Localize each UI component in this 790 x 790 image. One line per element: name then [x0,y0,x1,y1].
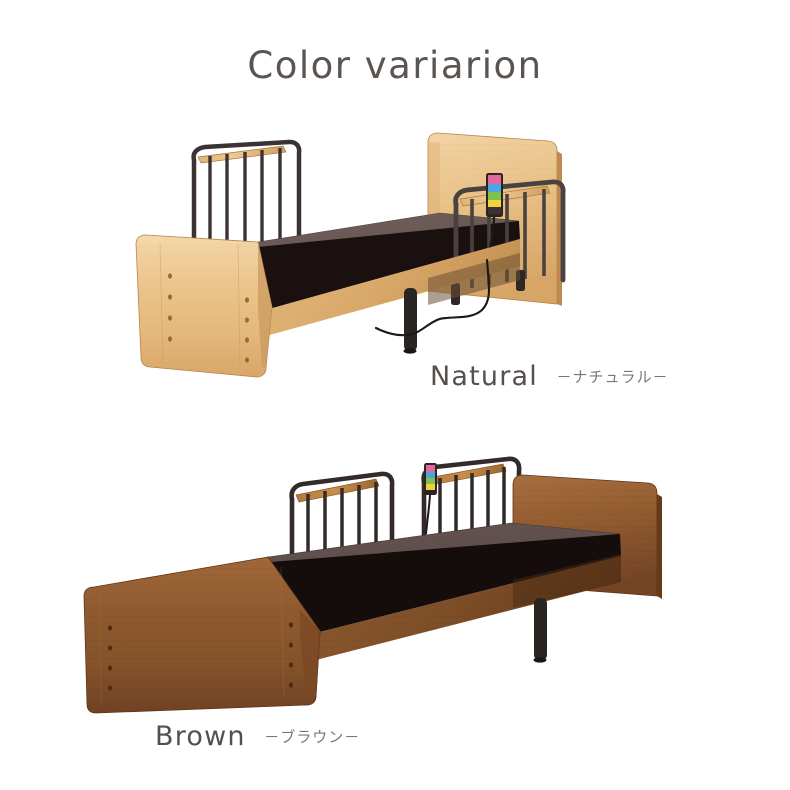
caption-brown: Brown －ブラウン－ [155,721,360,752]
variant-natural [0,120,790,400]
caption-natural: Natural －ナチュラル－ [430,361,668,392]
variant-kana-brown: －ブラウン－ [264,728,360,746]
footboard-panel-brown [84,557,320,713]
bed-illustration-brown [0,430,790,720]
bed-leg-natural [404,288,418,354]
variant-name-brown: Brown [155,721,246,752]
bed-illustration-natural [0,120,790,410]
footboard-panel-natural [136,235,272,377]
variant-brown [0,430,790,720]
variant-kana-natural: －ナチュラル－ [556,368,668,386]
page-title: Color variarion [0,44,790,87]
product-color-variation-page: Color variarion [0,0,790,790]
variant-name-natural: Natural [430,361,538,392]
bed-leg-brown [534,598,548,663]
